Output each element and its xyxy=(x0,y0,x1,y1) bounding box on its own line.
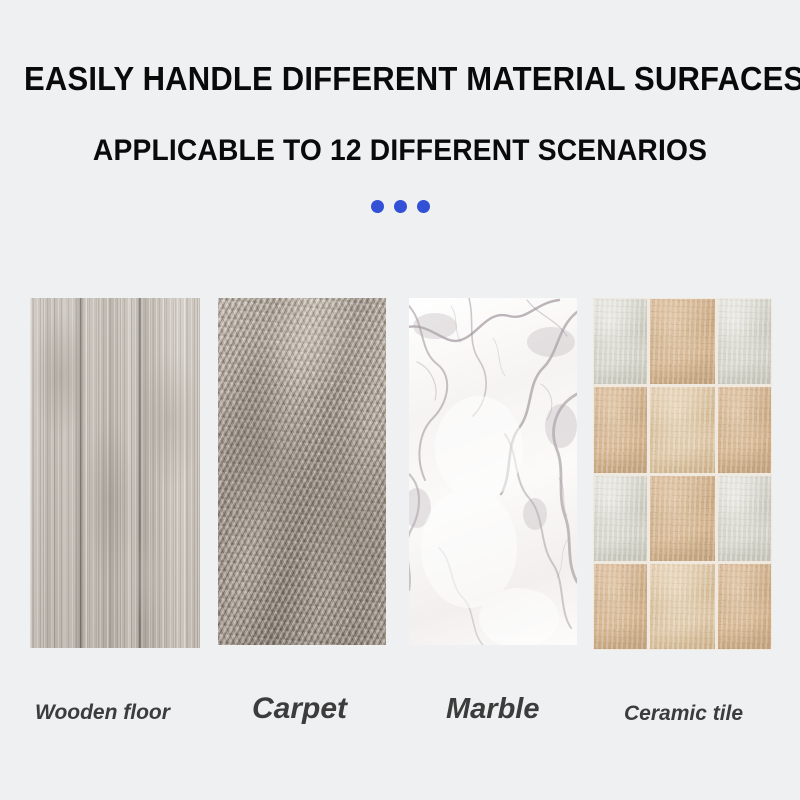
tile-cell xyxy=(650,564,715,649)
marble-veining xyxy=(409,298,577,645)
tile-cell xyxy=(594,564,647,649)
material-panel-row xyxy=(0,298,800,650)
material-panel-carpet xyxy=(218,298,386,645)
material-label-carpet: Carpet xyxy=(252,694,347,724)
tile-cell xyxy=(718,299,771,384)
dot-divider xyxy=(0,200,800,213)
material-label-marble: Marble xyxy=(446,695,539,724)
material-panel-wooden-floor xyxy=(30,298,200,648)
tile-cell xyxy=(650,299,715,384)
marble-texture xyxy=(409,298,577,645)
material-label-ceramic-tile: Ceramic tile xyxy=(624,703,743,724)
material-label-row: Wooden floor Carpet Marble Ceramic tile xyxy=(0,686,800,742)
divider-dot-icon xyxy=(394,200,407,213)
material-panel-marble xyxy=(409,298,577,645)
tile-cell xyxy=(718,387,771,472)
page-title: EASILY HANDLE DIFFERENT MATERIAL SURFACE… xyxy=(24,62,776,95)
tile-cell xyxy=(718,564,771,649)
material-panel-ceramic-tile xyxy=(593,298,772,650)
tile-cell xyxy=(650,476,715,561)
promo-page: EASILY HANDLE DIFFERENT MATERIAL SURFACE… xyxy=(0,0,800,800)
tile-cell xyxy=(650,387,715,472)
ceramic-tile-grid xyxy=(593,298,772,650)
tile-cell xyxy=(594,387,647,472)
tile-cell xyxy=(718,476,771,561)
material-label-wooden-floor: Wooden floor xyxy=(35,702,170,723)
page-subtitle: APPLICABLE TO 12 DIFFERENT SCENARIOS xyxy=(24,136,776,166)
divider-dot-icon xyxy=(371,200,384,213)
wooden-floor-texture xyxy=(30,298,200,648)
headline-block: EASILY HANDLE DIFFERENT MATERIAL SURFACE… xyxy=(0,62,800,166)
tile-cell xyxy=(594,476,647,561)
divider-dot-icon xyxy=(417,200,430,213)
tile-cell xyxy=(594,299,647,384)
carpet-texture xyxy=(218,298,386,645)
